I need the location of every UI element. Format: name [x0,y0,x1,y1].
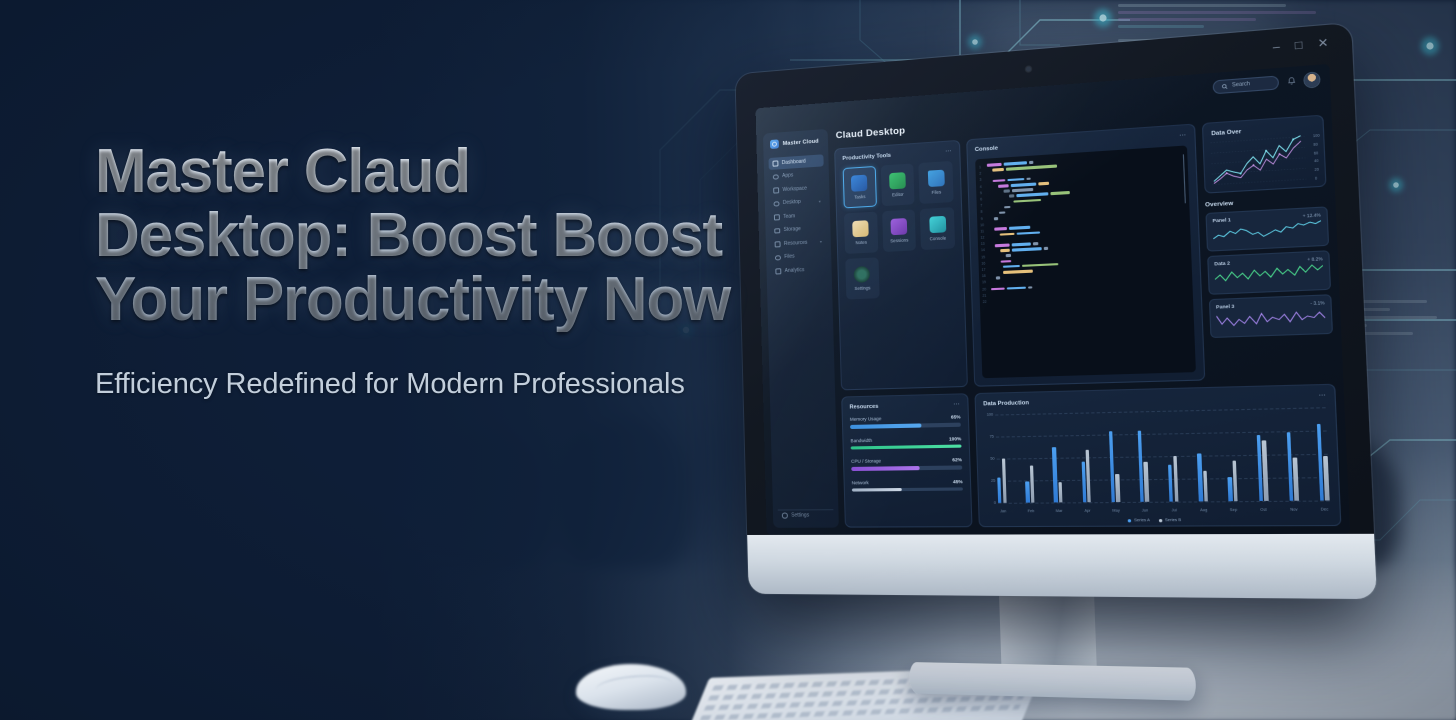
sidebar-item-label: Desktop [783,199,801,206]
folder-icon [927,170,944,187]
monitor-chin [747,534,1377,599]
desktop-monitor: – □ ✕ Search [735,23,1377,599]
bar-group[interactable] [1195,410,1208,502]
bar-group[interactable] [1079,412,1091,502]
app-tile-label: Editor [892,192,904,198]
progress-value: 65% [951,414,961,419]
search-placeholder: Search [1232,81,1250,89]
sidebar: Master Cloud Dashboard Apps Worksp [763,129,839,528]
editor-icon [889,172,906,189]
sidebar-item-label: Apps [782,173,793,180]
app-tile-files[interactable]: Files [919,161,954,204]
sidebar-item-storage[interactable]: Storage [770,222,825,237]
bar-group[interactable] [1285,408,1298,501]
app-tile-console[interactable]: Console [920,207,955,250]
app-tile-sessions[interactable]: Sessions [882,209,916,252]
monitor-stand-neck [999,593,1097,676]
notes-icon [853,220,870,237]
console-panel: ⋯ Console 123456 789101112 131415161718 … [966,123,1205,386]
bar [1173,456,1179,502]
sparkline-value: + 12.4% [1303,212,1321,218]
progress-value: 45% [953,479,963,484]
bar-group[interactable] [1166,411,1178,502]
progress-track [851,466,962,471]
hero-banner-stage: Master Claud Desktop: Boost Boost Your P… [0,0,1456,720]
sidebar-item-label: Team [783,213,795,220]
data-production-panel: ⋯ Data Production [974,384,1341,528]
bar [997,478,1001,503]
legend-item-series-a[interactable]: Series A [1128,518,1150,522]
bar-group[interactable] [995,414,1006,503]
app-tile-grid: Tasks Editor Files [843,161,957,300]
bell-icon[interactable] [1287,76,1297,85]
page-title: Master Claud Desktop: Boost Boost Your P… [95,140,735,332]
sidebar-item-label: Files [784,254,795,261]
bar [1001,459,1006,503]
sparkline-value: - 3.1% [1310,300,1324,306]
legend-swatch [1128,519,1131,522]
bar [1197,454,1203,502]
data-over-chart-card: Data Over [1202,115,1327,194]
legend-swatch [1159,518,1162,521]
search-input[interactable]: Search [1213,75,1280,94]
folder-icon [775,255,781,261]
app-tile-tasks[interactable]: Tasks [843,166,877,208]
x-tick: Feb [1026,509,1036,513]
chevron-down-icon: ▾ [820,239,822,244]
bar-group[interactable] [1255,409,1268,501]
bar [1262,440,1268,501]
bar [1058,482,1062,503]
x-tick: Sep [1228,508,1239,512]
bar-chart-x-labels: JanFebMarAprMayJunJulAugSepOctNovDec [998,507,1330,513]
sparkline-title: Panel 1 [1212,217,1230,223]
app-tile-label: Sessions [890,237,908,243]
progress-header: Bandwidth 100% [850,436,961,443]
app-tile-label: Settings [854,285,870,291]
bar [1025,481,1029,502]
minimize-icon[interactable]: – [1273,42,1281,54]
bar [1293,458,1299,501]
sparkline-card-panel-3[interactable]: Panel 3 - 3.1% [1209,294,1333,338]
sessions-icon [890,218,907,235]
x-tick: Apr [1082,509,1092,513]
brand: Master Cloud [768,136,823,149]
panel-menu-icon[interactable]: ⋯ [1179,132,1187,140]
console-icon [929,216,946,233]
sidebar-item-resources[interactable]: Resources ▾ [771,236,826,250]
sidebar-item-workspace[interactable]: Workspace [769,181,824,196]
bar-group[interactable] [1316,407,1329,500]
line-chart-y-axis: 100 80 60 40 20 0 [1313,133,1322,180]
app-body: Master Cloud Dashboard Apps Worksp [756,92,1350,535]
sparkline-card-data-2[interactable]: Data 2 + 8.2% [1207,250,1331,295]
resources-panel: ⋯ Resources Memory Usage 65% [841,393,972,527]
logo-icon [770,139,779,149]
maximize-icon[interactable]: □ [1295,40,1303,53]
bar [1228,477,1233,501]
sidebar-item-label: Dashboard [782,158,806,166]
x-tick: Oct [1258,508,1269,512]
chart-icon [775,268,781,274]
panel-menu-icon[interactable]: ⋯ [945,148,952,156]
sparkline-plot [1216,308,1325,331]
tasks-icon [851,175,868,192]
box-icon [774,228,780,234]
progress-value: 62% [952,457,962,462]
bar-chart-legend: Series A Series B [980,517,1340,523]
sidebar-item-apps[interactable]: Apps [769,168,824,183]
sidebar-item-settings[interactable]: Settings [778,509,834,521]
progress-label: Memory Usage [850,416,882,422]
progress-track [851,444,962,450]
app-tile-notes[interactable]: Notes [844,212,878,254]
progress-row-cpu: CPU / Storage 62% [851,457,962,471]
progress-fill [851,444,962,450]
progress-fill [851,466,919,471]
hero-text-block: Master Claud Desktop: Boost Boost Your P… [95,140,735,403]
y-tick: 100 [987,412,993,416]
bar [1144,462,1149,502]
top-panels-row: ⋯ Productivity Tools Tasks E [834,115,1335,391]
x-tick: May [1111,508,1121,512]
sparkline-card-panel-1[interactable]: Panel 1 + 12.4% [1205,206,1329,251]
bolt-icon [774,214,780,220]
y-tick: 50 [990,457,994,461]
bar-groups [995,407,1329,503]
bar-group[interactable] [1108,412,1120,502]
cloud-desktop-app: Search Master Cloud [756,64,1351,535]
overview-section: Overview Panel 1 + 12.4% [1205,193,1335,380]
server-icon [775,241,781,247]
legend-item-series-b[interactable]: Series B [1159,518,1181,522]
progress-header: Memory Usage 65% [850,414,961,422]
panel-menu-icon[interactable]: ⋯ [953,401,960,408]
bar-group[interactable] [1051,413,1063,502]
sidebar-item-desktop[interactable]: Desktop ▾ [770,195,825,210]
progress-fill [852,488,902,492]
progress-header: CPU / Storage 62% [851,457,962,464]
circle-icon [773,174,778,180]
chevron-down-icon: ▾ [819,198,821,203]
analytics-column: Data Over [1202,115,1335,381]
x-tick: Jun [1140,508,1150,512]
y-tick: 80 [1313,142,1320,147]
sparkline-title: Data 2 [1214,260,1230,266]
y-tick: 60 [1314,150,1321,155]
grid-icon [772,160,777,166]
sparkline-plot [1214,264,1323,287]
sidebar-item-label: Resources [784,239,808,246]
gear-icon [782,513,788,519]
bar [1324,456,1330,501]
x-tick: Jul [1169,508,1179,512]
progress-panel-title: Resources [849,402,960,411]
sparkline-plot [1213,220,1322,244]
app-tile-label: Tasks [854,194,865,200]
bar-group[interactable] [1023,414,1035,503]
sidebar-item-team[interactable]: Team [770,209,825,224]
bar-chart-y-axis: 100 75 50 25 0 [978,415,996,503]
progress-value: 100% [949,436,961,441]
y-tick: 0 [1315,176,1322,181]
brand-name: Master Cloud [783,138,819,147]
x-tick: Aug [1199,508,1209,512]
app-tile-label: Notes [855,240,867,246]
avatar[interactable] [1304,72,1320,87]
bar-chart-title: Data Production [983,393,1326,408]
panel-menu-icon[interactable]: ⋯ [1318,392,1326,400]
x-tick: Nov [1289,507,1300,511]
apps-panel-title: Productivity Tools [842,149,952,162]
progress-label: Bandwidth [850,437,872,443]
bar [1115,474,1120,502]
y-tick: 40 [1314,159,1321,164]
code-editor[interactable]: 123456 789101112 131415161718 19202122 [975,145,1196,378]
progress-label: CPU / Storage [851,458,881,464]
progress-row-bandwidth: Bandwidth 100% [850,436,961,450]
legend-label: Series B [1165,518,1181,522]
x-tick: Dec [1319,507,1330,512]
gear-icon [854,266,871,283]
close-icon[interactable]: ✕ [1317,38,1328,51]
sparkline-title: Panel 3 [1216,304,1235,310]
app-tile-label: Console [930,235,947,241]
window-controls[interactable]: – □ ✕ [1273,38,1329,54]
page-subtitle: Efficiency Redefined for Modern Professi… [95,366,735,403]
bar [1168,465,1173,501]
sidebar-item-files[interactable]: Files [771,249,826,263]
bottom-panels-row: ⋯ Resources Memory Usage 65% [841,384,1341,528]
progress-track [852,487,963,492]
webcam-icon [1025,66,1030,72]
bar [1203,471,1208,501]
y-tick: 75 [990,435,994,439]
bar [1109,432,1115,502]
sidebar-item-analytics[interactable]: Analytics [771,263,826,277]
progress-fill [850,423,922,428]
bar [1052,447,1058,502]
bar-group[interactable] [1225,409,1238,501]
progress-row-memory: Memory Usage 65% [850,414,961,428]
main-content: Claud Desktop ⋯ Productivity Tools Tasks [834,93,1342,528]
app-tile-editor[interactable]: Editor [880,163,914,206]
progress-track [850,423,961,429]
y-tick: 20 [1314,167,1321,172]
y-tick: 25 [991,479,995,483]
sidebar-item-dashboard[interactable]: Dashboard [768,154,823,169]
bar-chart-plot: 100 75 50 25 0 [995,407,1329,503]
sidebar-item-label: Analytics [785,267,805,274]
sidebar-footer-label: Settings [791,512,809,518]
y-tick: 100 [1313,133,1320,138]
progress-header: Network 45% [852,479,963,485]
x-tick: Mar [1054,509,1064,513]
layers-icon [773,187,779,193]
progress-label: Network [852,480,869,485]
bar-group[interactable] [1137,411,1149,502]
bar [1086,450,1092,502]
productivity-tools-panel: ⋯ Productivity Tools Tasks E [834,140,968,391]
progress-row-network: Network 45% [852,479,963,492]
search-icon [1222,83,1228,89]
user-icon [774,201,780,207]
y-tick: 0 [994,501,996,505]
bar [1232,461,1238,502]
line-chart-plot [1210,134,1306,186]
sidebar-item-label: Storage [784,226,801,233]
x-tick: Jan [998,509,1008,513]
sidebar-item-label: Workspace [782,185,807,193]
code-lines [987,151,1187,290]
legend-label: Series A [1134,518,1150,522]
bar [1030,465,1035,502]
monitor-screen: Search Master Cloud [756,64,1351,535]
app-tile-label: Files [932,189,942,195]
sidebar-spacer [772,277,834,510]
sparkline-value: + 8.2% [1307,256,1323,262]
app-tile-settings[interactable]: Settings [845,257,879,299]
